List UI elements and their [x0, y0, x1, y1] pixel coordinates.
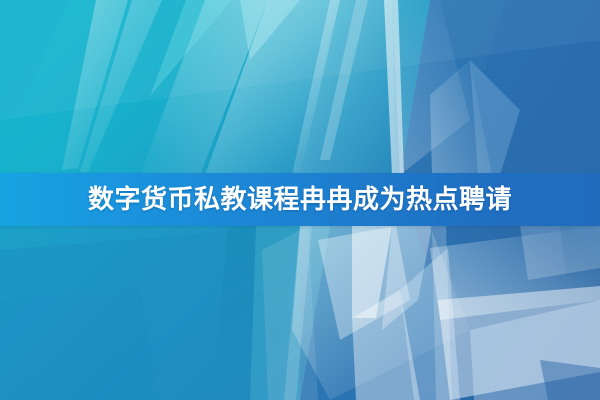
headline-title: 数字货币私教课程冉冉成为热点聘请 [88, 187, 512, 213]
promo-banner: 数字货币私教课程冉冉成为热点聘请 [0, 0, 600, 400]
headline-band: 数字货币私教课程冉冉成为热点聘请 [0, 173, 600, 226]
